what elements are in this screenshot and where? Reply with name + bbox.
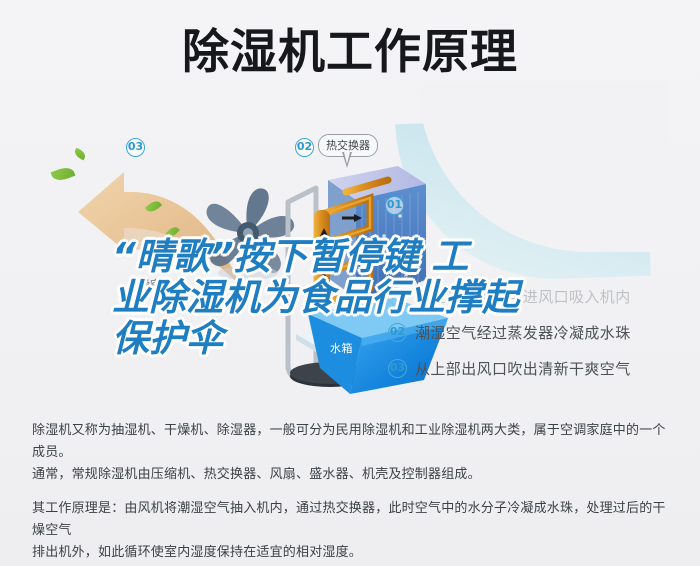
page-root: 除湿机工作原理 — [0, 0, 700, 566]
paragraph-spacer — [32, 486, 672, 498]
paragraph-1-line-2: 通常，常规除湿机由压缩机、热交换器、风扇、盛水器、机壳及控制器组成。 — [32, 464, 672, 486]
headline-line-1: “晴歌”按下暂停键 工 — [112, 236, 632, 277]
legend-text-03: 从上部出风口吹出清新干爽空气 — [415, 358, 631, 379]
paragraph-1-line-1: 除湿机又称为抽湿机、干燥机、除湿器，一般可分为民用除湿机和工业除湿机两大类，属于… — [32, 420, 672, 464]
paragraph-2-line-2: 排出机外，如此循环使室内湿度保持在适宜的相对湿度。 — [32, 542, 672, 564]
callout-pointer-icon — [342, 152, 352, 168]
page-title: 除湿机工作原理 — [0, 24, 700, 82]
diagram-badge-02: 02 — [295, 138, 314, 157]
headline-line-2: 业除湿机为食品行业撑起 — [112, 277, 632, 318]
diagram-badge-03: 03 — [126, 138, 145, 157]
paragraph-2-line-1: 其工作原理是：由风机将潮湿空气抽入机内，通过热交换器，此时空气中的水分子冷凝成水… — [32, 498, 672, 542]
leaf-icon — [73, 148, 87, 161]
headline-overlay: “晴歌”按下暂停键 工 业除湿机为食品行业撑起 保护伞 — [112, 236, 632, 359]
legend-badge-03: 03 — [388, 359, 407, 378]
body-copy: 除湿机又称为抽湿机、干燥机、除湿器，一般可分为民用除湿机和工业除湿机两大类，属于… — [32, 420, 672, 564]
page-title-text: 除湿机工作原理 — [182, 24, 518, 82]
headline-line-3: 保护伞 — [112, 318, 632, 359]
diagram-badge-01: 01 — [385, 196, 404, 215]
